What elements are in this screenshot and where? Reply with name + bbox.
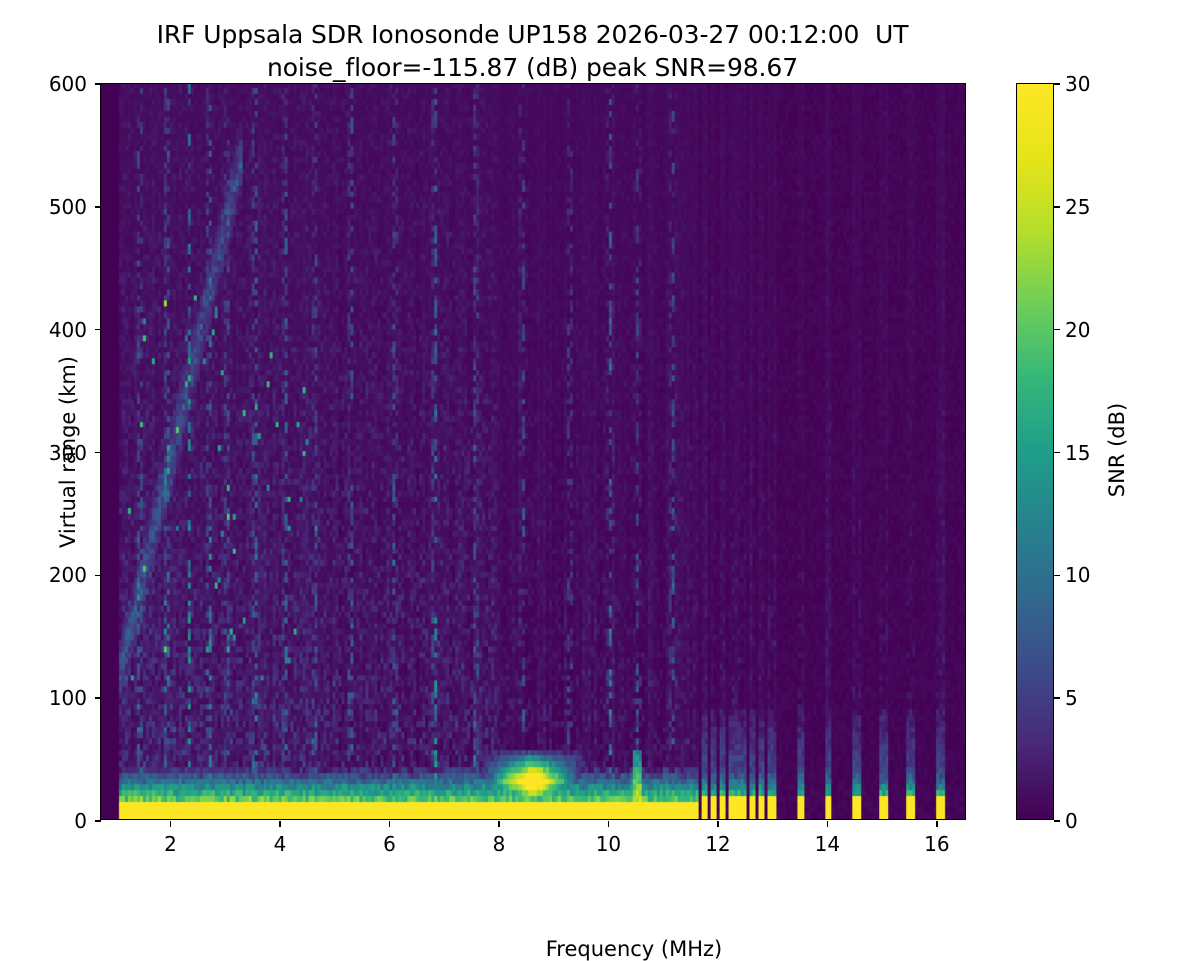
- y-tick-label: 200: [49, 563, 87, 587]
- y-tick-label: 100: [49, 686, 87, 710]
- colorbar-tick-label: 5: [1065, 686, 1078, 710]
- colorbar-tick-mark: [1054, 329, 1060, 330]
- colorbar[interactable]: 051015202530: [1016, 83, 1054, 820]
- colorbar-tick-mark: [1054, 820, 1060, 821]
- y-tick-label: 500: [49, 195, 87, 219]
- y-tick-label: 400: [49, 318, 87, 342]
- title-line-1: IRF Uppsala SDR Ionosonde UP158 2026-03-…: [157, 20, 909, 49]
- x-tick-mark: [936, 821, 938, 827]
- x-tick-mark: [170, 821, 172, 827]
- colorbar-tick-label: 10: [1065, 563, 1090, 587]
- y-tick-mark: [95, 206, 101, 208]
- y-tick-mark: [95, 820, 101, 822]
- colorbar-tick-mark: [1054, 575, 1060, 576]
- y-tick-mark: [95, 575, 101, 577]
- colorbar-tick-label: 20: [1065, 318, 1090, 342]
- y-tick-mark: [95, 83, 101, 85]
- x-tick-label: 12: [705, 832, 730, 856]
- x-tick-label: 10: [596, 832, 621, 856]
- colorbar-tick-mark: [1054, 697, 1060, 698]
- x-tick-label: 16: [924, 832, 949, 856]
- colorbar-tick-label: 0: [1065, 809, 1078, 833]
- colorbar-tick-mark: [1054, 206, 1060, 207]
- x-tick-label: 14: [815, 832, 840, 856]
- colorbar-tick-label: 15: [1065, 441, 1090, 465]
- y-tick-mark: [95, 329, 101, 331]
- x-tick-mark: [608, 821, 610, 827]
- x-tick-mark: [827, 821, 829, 827]
- y-tick-mark: [95, 697, 101, 699]
- figure-title: IRF Uppsala SDR Ionosonde UP158 2026-03-…: [0, 18, 1065, 84]
- colorbar-gradient: [1017, 84, 1053, 819]
- ionogram-plot-area[interactable]: Virtual range (km) Frequency (MHz) 01002…: [100, 83, 966, 820]
- x-axis-label: Frequency (MHz): [101, 937, 1167, 961]
- x-tick-mark: [498, 821, 500, 827]
- x-tick-label: 2: [164, 832, 177, 856]
- y-tick-label: 600: [49, 72, 87, 96]
- colorbar-tick-label: 25: [1065, 195, 1090, 219]
- colorbar-tick-mark: [1054, 452, 1060, 453]
- ionogram-figure: IRF Uppsala SDR Ionosonde UP158 2026-03-…: [0, 0, 1200, 900]
- colorbar-tick-label: 30: [1065, 72, 1090, 96]
- ionogram-heatmap-canvas: [101, 84, 965, 819]
- x-tick-mark: [389, 821, 391, 827]
- y-tick-label: 0: [74, 809, 87, 833]
- y-tick-mark: [95, 452, 101, 454]
- x-tick-label: 4: [274, 832, 287, 856]
- y-tick-label: 300: [49, 441, 87, 465]
- x-tick-label: 6: [383, 832, 396, 856]
- colorbar-tick-mark: [1054, 83, 1060, 84]
- x-tick-mark: [279, 821, 281, 827]
- x-tick-mark: [717, 821, 719, 827]
- colorbar-label: SNR (dB): [1105, 285, 1129, 615]
- title-line-2: noise_floor=-115.87 (dB) peak SNR=98.67: [267, 53, 798, 82]
- x-tick-label: 8: [493, 832, 506, 856]
